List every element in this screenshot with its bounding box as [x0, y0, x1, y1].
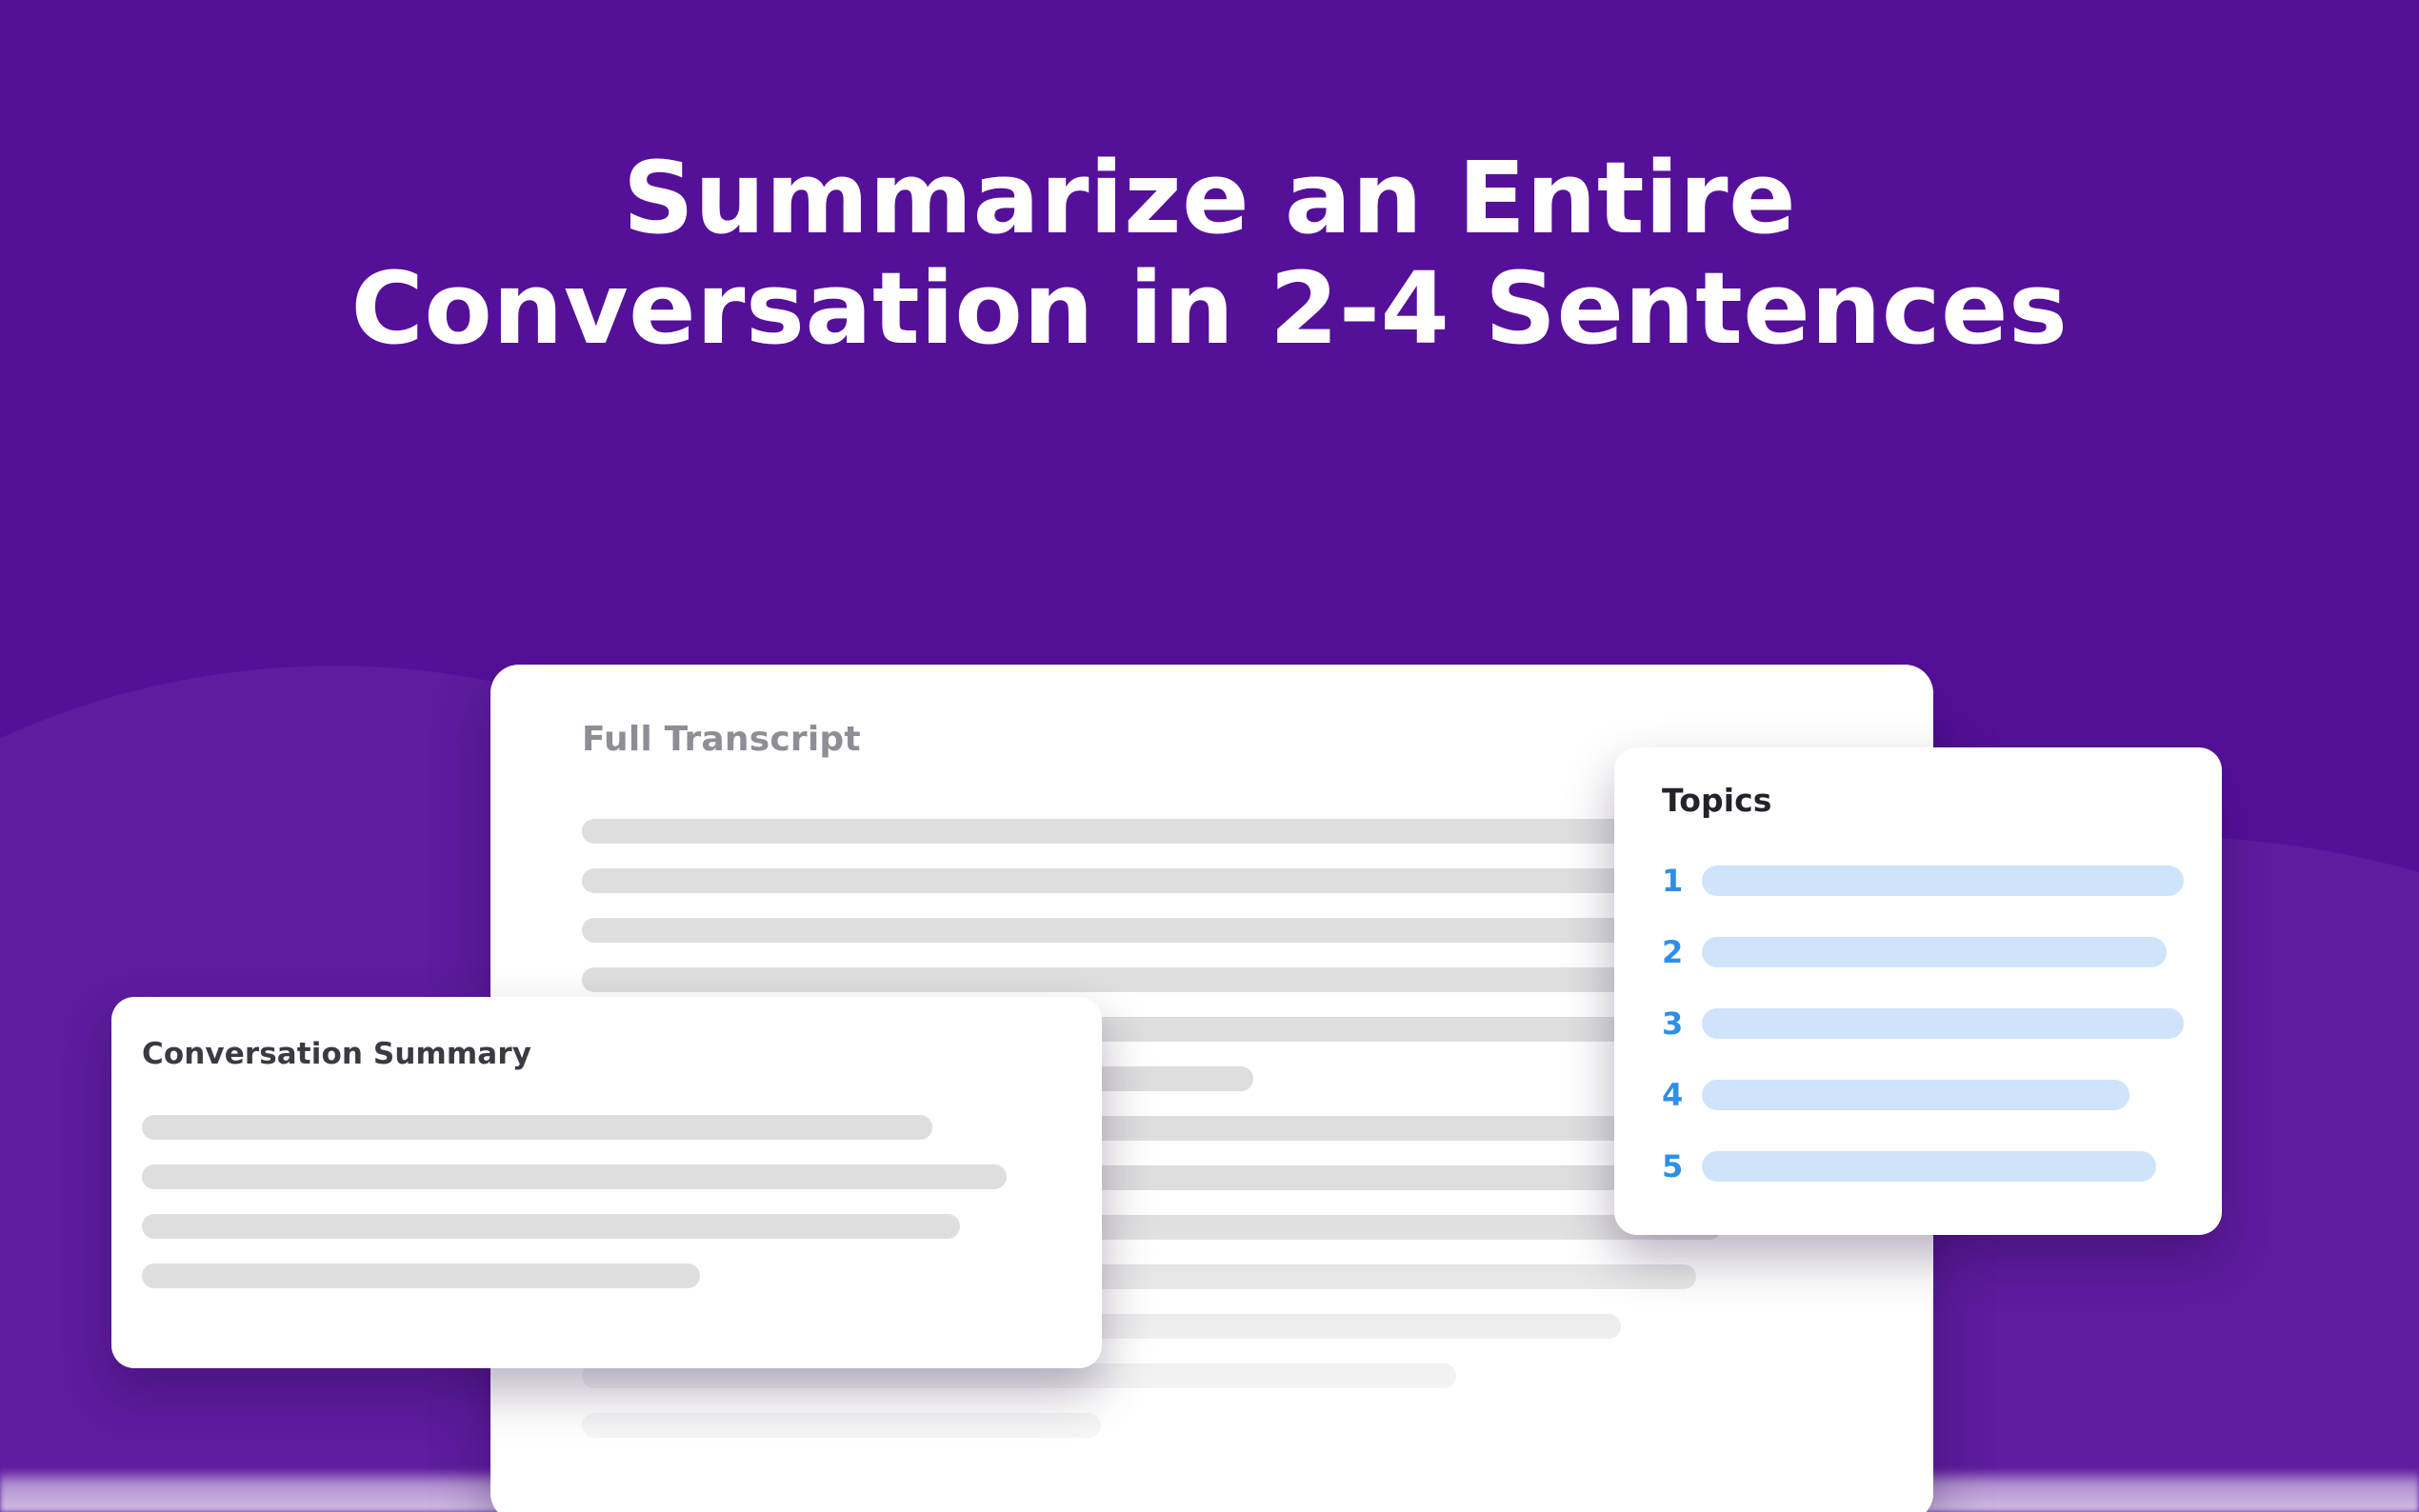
summary-line — [142, 1115, 932, 1140]
topic-number: 3 — [1662, 1008, 1702, 1039]
transcript-line — [582, 868, 1772, 893]
summary-line — [142, 1214, 960, 1239]
promo-banner: Summarize an Entire Conversation in 2-4 … — [0, 0, 2419, 1512]
topics-list: 12345 — [1662, 862, 2184, 1219]
topic-bar — [1702, 1080, 2129, 1110]
page-title: Summarize an Entire Conversation in 2-4 … — [0, 143, 2419, 365]
summary-line — [142, 1164, 1007, 1189]
page-title-line-1: Summarize an Entire — [0, 143, 2419, 253]
transcript-line — [582, 918, 1760, 943]
topic-bar — [1702, 865, 2184, 896]
topic-number: 5 — [1662, 1151, 1702, 1182]
transcript-line — [582, 1413, 1101, 1438]
transcript-line — [582, 967, 1722, 992]
page-title-line-2: Conversation in 2-4 Sentences — [0, 253, 2419, 364]
summary-line — [142, 1263, 700, 1288]
topic-number: 1 — [1662, 865, 1702, 896]
topic-row[interactable]: 5 — [1662, 1147, 2184, 1185]
conversation-summary-placeholder-lines — [142, 1115, 1071, 1313]
topic-number: 4 — [1662, 1080, 1702, 1110]
topic-row[interactable]: 3 — [1662, 1005, 2184, 1043]
topic-row[interactable]: 2 — [1662, 933, 2184, 971]
conversation-summary-card[interactable]: Conversation Summary — [111, 997, 1102, 1368]
transcript-line — [582, 819, 1748, 844]
topic-bar — [1702, 1008, 2184, 1039]
topics-card[interactable]: Topics 12345 — [1614, 747, 2222, 1235]
topic-row[interactable]: 1 — [1662, 862, 2184, 900]
topic-bar — [1702, 1151, 2156, 1182]
conversation-summary-title: Conversation Summary — [142, 1037, 531, 1071]
full-transcript-title: Full Transcript — [582, 720, 861, 759]
topic-bar — [1702, 937, 2167, 967]
topic-row[interactable]: 4 — [1662, 1076, 2184, 1114]
topic-number: 2 — [1662, 937, 1702, 967]
topics-title: Topics — [1662, 782, 1772, 819]
